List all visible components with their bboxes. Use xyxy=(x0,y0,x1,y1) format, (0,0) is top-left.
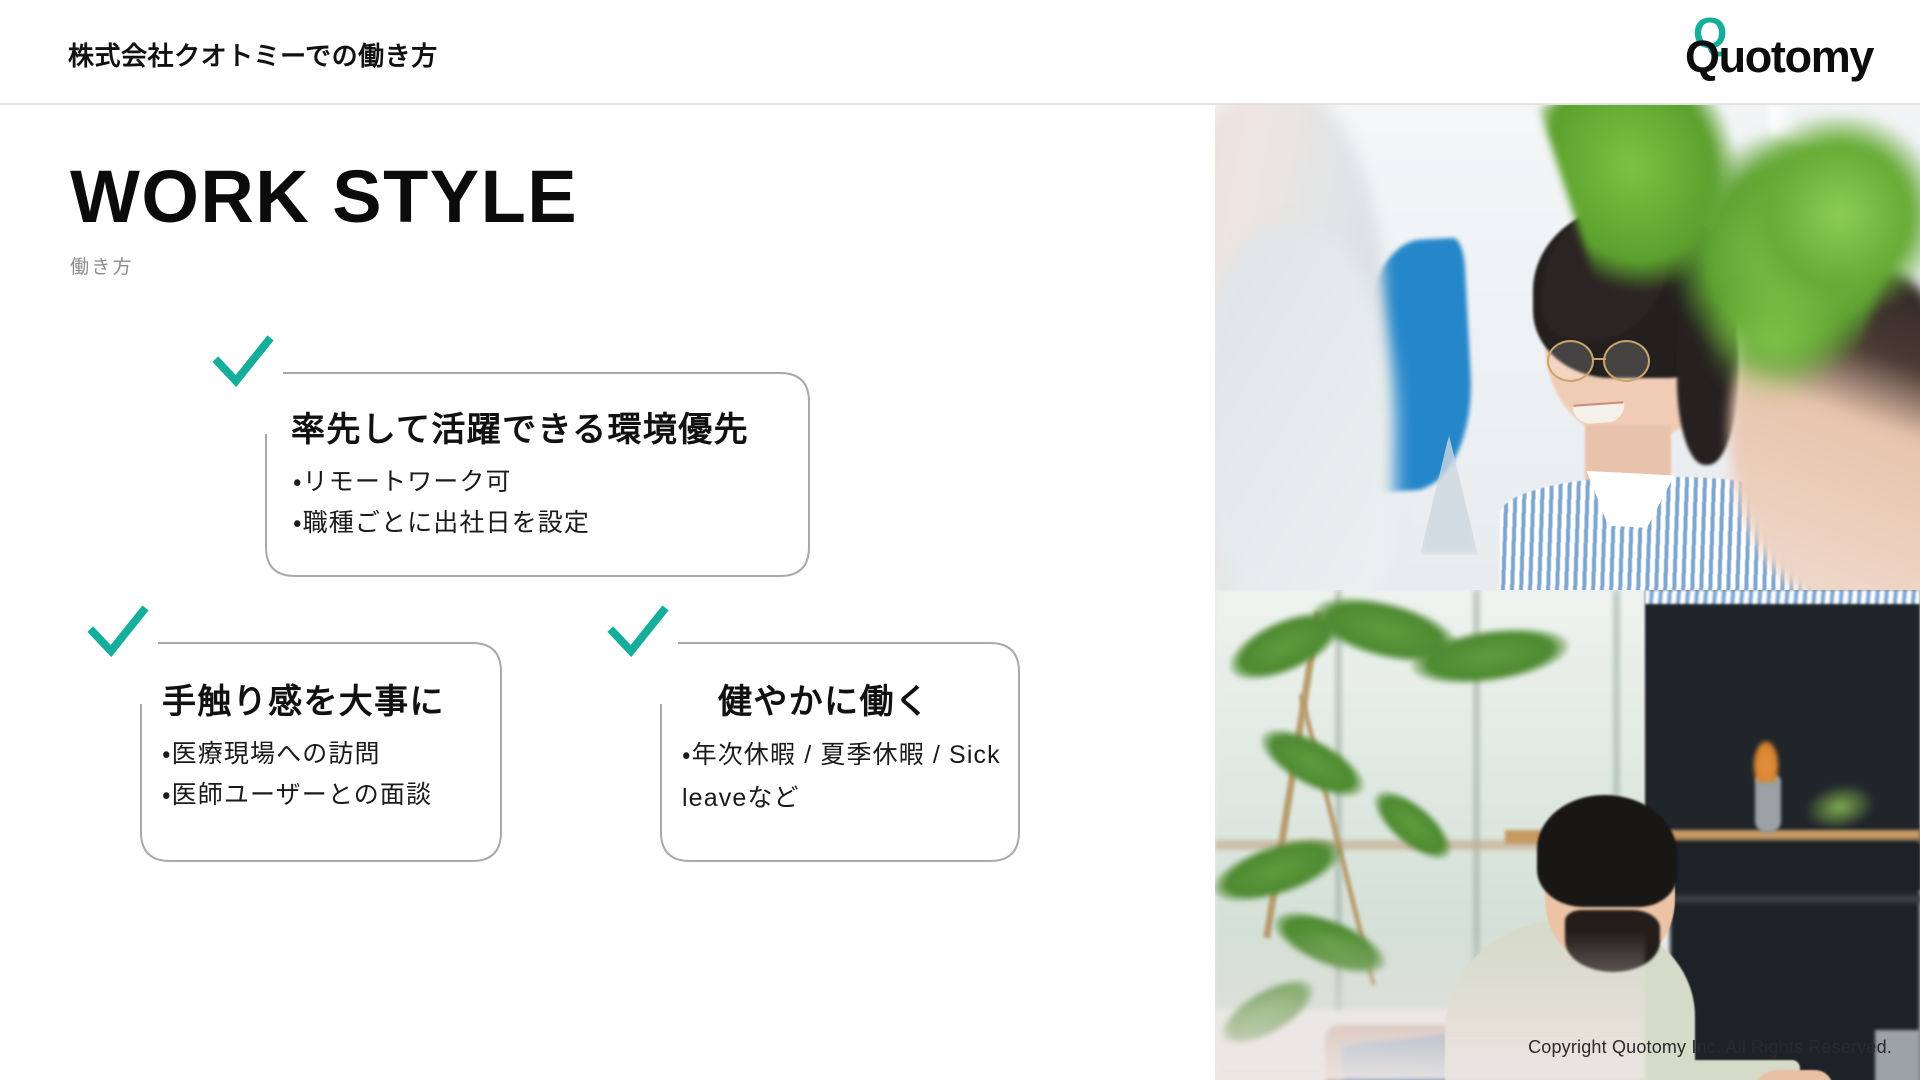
photo-office-conversation xyxy=(1215,105,1920,590)
photo-panel xyxy=(1215,105,1920,1080)
work-style-card-1: 率先して活躍できる環境優先 ・リモートワーク可 ・職種ごとに出社日を設定 xyxy=(265,372,810,577)
quotomy-logo: Q Quotomy xyxy=(1685,12,1875,82)
list-item: ・職種ごとに出社日を設定 xyxy=(293,503,590,544)
work-style-card-3: 健やかに働く ・年次休暇 / 夏季休暇 / Sick leaveなど xyxy=(660,642,1020,862)
logo-wordmark: Quotomy xyxy=(1685,34,1873,79)
checkmark-icon xyxy=(607,604,669,660)
card-3-list: ・年次休暇 / 夏季休暇 / Sick leaveなど xyxy=(682,734,1002,820)
list-item: ・年次休暇 / 夏季休暇 / Sick leaveなど xyxy=(682,734,1002,820)
page-title: WORK STYLE xyxy=(70,160,578,234)
page-subtitle: 働き方 xyxy=(70,252,578,279)
title-block: WORK STYLE 働き方 xyxy=(70,160,578,279)
card-2-heading: 手触り感を大事に xyxy=(162,674,445,723)
copyright-text: Copyright Quotomy Inc. All Rights Reserv… xyxy=(1528,1037,1892,1058)
card-2-list: ・医療現場への訪問 ・医師ユーザーとの面談 xyxy=(162,734,432,815)
list-item: ・医療現場への訪問 xyxy=(162,734,432,775)
photo-remote-work-laptop xyxy=(1215,590,1920,1080)
checkmark-icon xyxy=(212,334,274,390)
card-1-list: ・リモートワーク可 ・職種ごとに出社日を設定 xyxy=(293,462,590,543)
checkmark-icon xyxy=(87,604,149,660)
slide-root: 株式会社クオトミーでの働き方 Q Quotomy WORK STYLE 働き方 … xyxy=(0,0,1920,1080)
card-3-heading: 健やかに働く xyxy=(718,674,930,723)
header-title: 株式会社クオトミーでの働き方 xyxy=(68,36,438,73)
work-style-card-2: 手触り感を大事に ・医療現場への訪問 ・医師ユーザーとの面談 xyxy=(140,642,502,862)
card-1-heading: 率先して活躍できる環境優先 xyxy=(291,402,749,451)
list-item: ・リモートワーク可 xyxy=(293,462,590,503)
slide-header: 株式会社クオトミーでの働き方 Q Quotomy xyxy=(0,0,1920,105)
list-item: ・医師ユーザーとの面談 xyxy=(162,775,432,816)
